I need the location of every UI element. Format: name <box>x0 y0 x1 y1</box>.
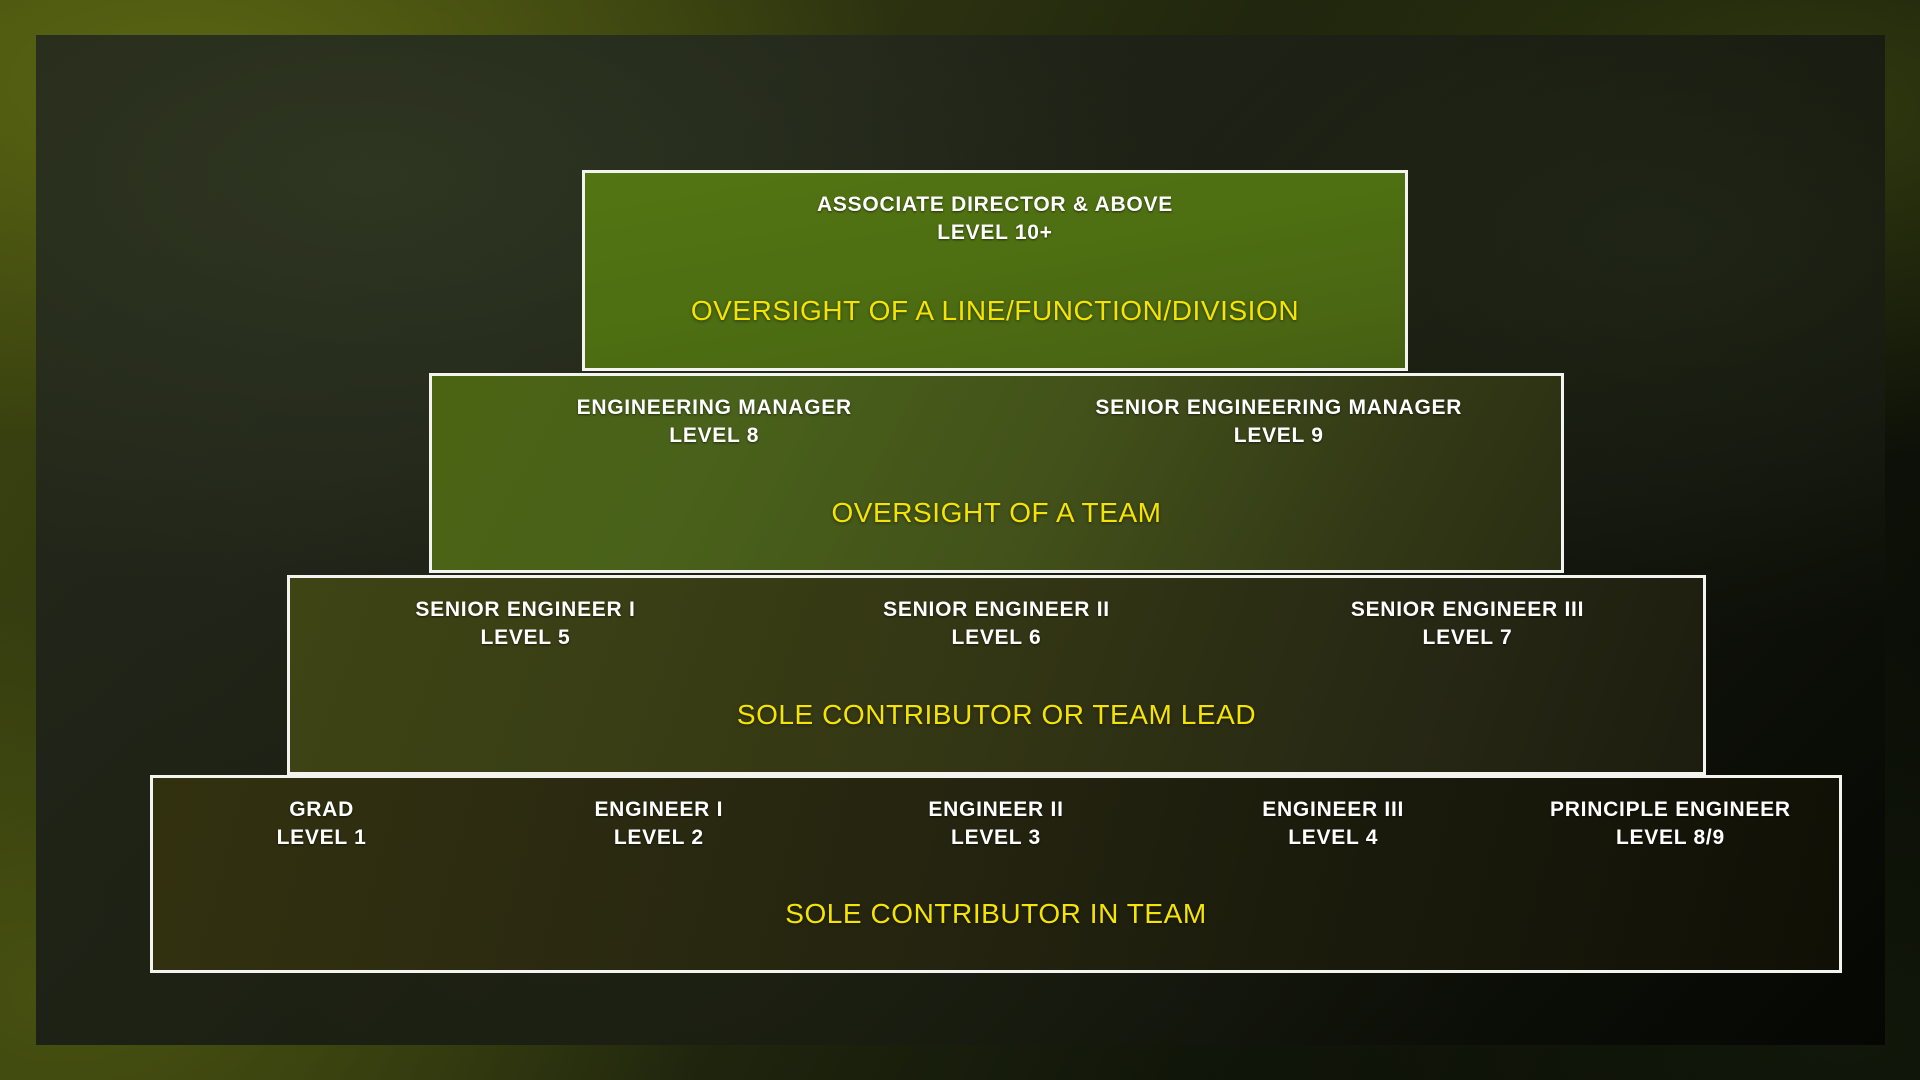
role-senior-engineer-iii[interactable]: SENIOR ENGINEER III LEVEL 7 <box>1232 596 1703 653</box>
pyramid-tier-2[interactable]: ENGINEERING MANAGER LEVEL 8 SENIOR ENGIN… <box>429 373 1564 573</box>
role-level: LEVEL 7 <box>1238 624 1697 652</box>
role-title: SENIOR ENGINEER III <box>1238 596 1697 624</box>
role-level: LEVEL 8/9 <box>1508 824 1833 852</box>
tier-2-role-row: ENGINEERING MANAGER LEVEL 8 SENIOR ENGIN… <box>432 394 1561 451</box>
tier-4-scope-caption: SOLE CONTRIBUTOR IN TEAM <box>153 898 1839 930</box>
role-principle-engineer[interactable]: PRINCIPLE ENGINEER LEVEL 8/9 <box>1502 796 1839 853</box>
slide-panel: ASSOCIATE DIRECTOR & ABOVE LEVEL 10+ OVE… <box>36 35 1885 1045</box>
role-engineer-iii[interactable]: ENGINEER III LEVEL 4 <box>1165 796 1502 853</box>
tier-3-scope-caption: SOLE CONTRIBUTOR OR TEAM LEAD <box>290 699 1703 731</box>
pyramid-tier-3[interactable]: SENIOR ENGINEER I LEVEL 5 SENIOR ENGINEE… <box>287 575 1706 775</box>
role-engineer-ii[interactable]: ENGINEER II LEVEL 3 <box>827 796 1164 853</box>
slide-canvas: ASSOCIATE DIRECTOR & ABOVE LEVEL 10+ OVE… <box>0 0 1920 1080</box>
role-level: LEVEL 6 <box>767 624 1226 652</box>
tier-1-scope-caption: OVERSIGHT OF A LINE/FUNCTION/DIVISION <box>585 295 1405 327</box>
role-engineering-manager[interactable]: ENGINEERING MANAGER LEVEL 8 <box>432 394 997 451</box>
pyramid-tier-1[interactable]: ASSOCIATE DIRECTOR & ABOVE LEVEL 10+ OVE… <box>582 170 1408 371</box>
role-senior-engineering-manager[interactable]: SENIOR ENGINEERING MANAGER LEVEL 9 <box>997 394 1562 451</box>
role-grad[interactable]: GRAD LEVEL 1 <box>153 796 490 853</box>
role-level: LEVEL 8 <box>438 422 991 450</box>
role-associate-director-and-above[interactable]: ASSOCIATE DIRECTOR & ABOVE LEVEL 10+ <box>811 191 1179 248</box>
tier-3-role-row: SENIOR ENGINEER I LEVEL 5 SENIOR ENGINEE… <box>290 596 1703 653</box>
role-level: LEVEL 2 <box>496 824 821 852</box>
role-title: ENGINEERING MANAGER <box>438 394 991 422</box>
role-level: LEVEL 10+ <box>817 219 1173 247</box>
role-title: SENIOR ENGINEER II <box>767 596 1226 624</box>
role-engineer-i[interactable]: ENGINEER I LEVEL 2 <box>490 796 827 853</box>
pyramid-tier-4[interactable]: GRAD LEVEL 1 ENGINEER I LEVEL 2 ENGINEER… <box>150 775 1842 973</box>
role-title: PRINCIPLE ENGINEER <box>1508 796 1833 824</box>
role-level: LEVEL 3 <box>833 824 1158 852</box>
role-level: LEVEL 4 <box>1171 824 1496 852</box>
role-title: ENGINEER II <box>833 796 1158 824</box>
role-title: ENGINEER I <box>496 796 821 824</box>
role-senior-engineer-i[interactable]: SENIOR ENGINEER I LEVEL 5 <box>290 596 761 653</box>
role-title: SENIOR ENGINEER I <box>296 596 755 624</box>
role-title: ENGINEER III <box>1171 796 1496 824</box>
tier-1-role-row: ASSOCIATE DIRECTOR & ABOVE LEVEL 10+ <box>585 191 1405 248</box>
role-title: ASSOCIATE DIRECTOR & ABOVE <box>817 191 1173 219</box>
role-level: LEVEL 9 <box>1003 422 1556 450</box>
tier-2-scope-caption: OVERSIGHT OF A TEAM <box>432 497 1561 529</box>
role-level: LEVEL 1 <box>159 824 484 852</box>
role-level: LEVEL 5 <box>296 624 755 652</box>
role-title: GRAD <box>159 796 484 824</box>
role-title: SENIOR ENGINEERING MANAGER <box>1003 394 1556 422</box>
tier-4-role-row: GRAD LEVEL 1 ENGINEER I LEVEL 2 ENGINEER… <box>153 796 1839 853</box>
role-senior-engineer-ii[interactable]: SENIOR ENGINEER II LEVEL 6 <box>761 596 1232 653</box>
